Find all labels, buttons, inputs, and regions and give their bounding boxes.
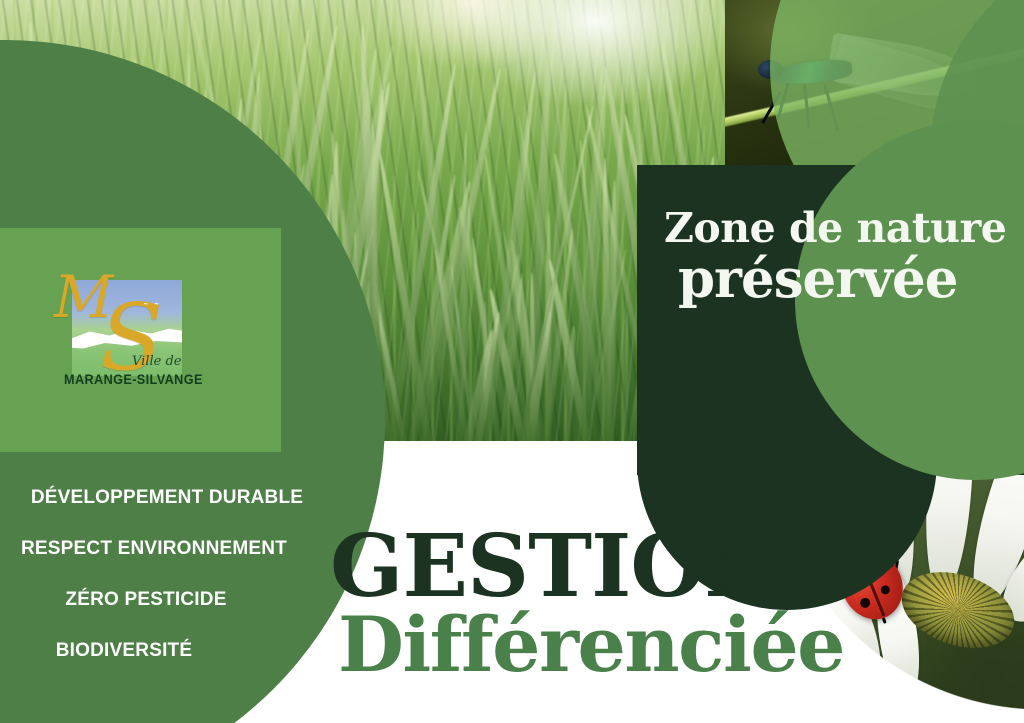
logo-birds-icon: ˜ ˜ [144,302,160,314]
slogan-item-respect-environnement: RESPECT ENVIRONNEMENT [0,539,330,558]
zone-heading: Zone de nature préservée [664,208,1024,306]
main-title-line1: GESTION [330,527,970,608]
slogan-item-developpement-durable: DÉVELOPPEMENT DURABLE [4,488,330,507]
slogan-item-biodiversite: BIODIVERSITÉ [0,641,330,660]
slogan-list: DÉVELOPPEMENT DURABLE RESPECT ENVIRONNEM… [0,488,330,660]
poster-canvas: Zone de nature préservée M S ˜ ˜ Ville d… [0,0,1024,723]
slogan-item-zero-pesticide: ZÉRO PESTICIDE [0,590,330,609]
zone-heading-line2: préservée [678,253,1024,306]
logo-monogram: M S [48,272,208,382]
zone-heading-line1: Zone de nature [664,208,1024,249]
grass-blade [623,311,629,441]
logo-ville-de-label: Ville de [132,354,181,369]
logo-monogram-m: M [54,268,105,326]
main-title: GESTION Différenciée [330,527,970,682]
main-title-line2: Différenciée [338,608,970,682]
city-logo: M S ˜ ˜ Ville de MARANGE-SILVANGE [48,272,208,390]
logo-city-name: MARANGE-SILVANGE [64,372,224,387]
